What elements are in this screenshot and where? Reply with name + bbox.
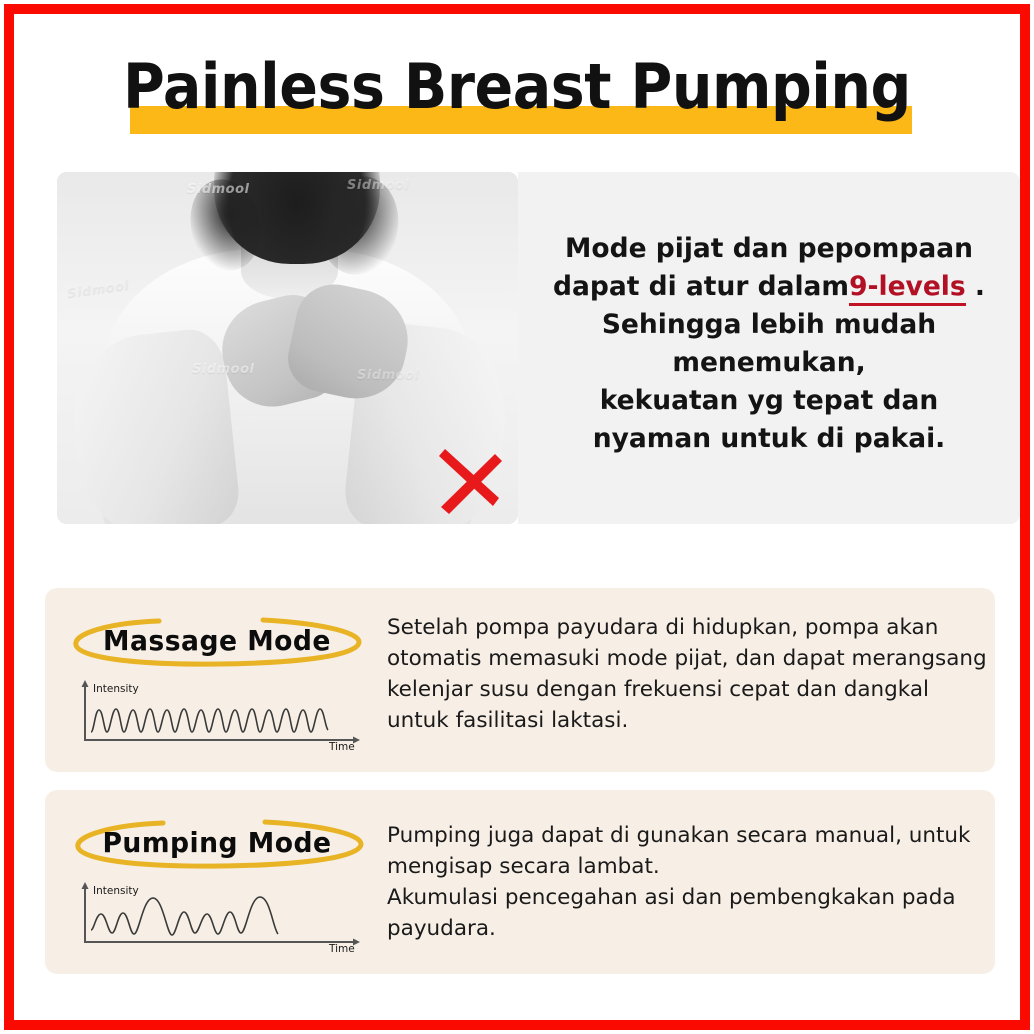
pumping-mode-title: Pumping Mode	[75, 816, 360, 870]
red-x-icon	[429, 444, 507, 522]
massage-mode-panel: Massage Mode Intensity Time Setelah pomp…	[45, 588, 995, 772]
pumping-x-axis-label: Time	[328, 943, 355, 954]
hero-line-1: Mode pijat dan pepompaan	[565, 233, 973, 264]
massage-waveform-chart: Intensity Time	[71, 676, 371, 752]
pumping-mode-visual: Pumping Mode Intensity Time	[45, 790, 387, 974]
hero-text-panel: Mode pijat dan pepompaan dapat di atur d…	[518, 172, 1020, 524]
infographic-page: Painless Breast Pumping Sidmool Sidmool …	[0, 0, 1034, 1034]
massage-x-axis-label: Time	[328, 741, 355, 752]
massage-mode-badge: Massage Mode	[67, 614, 367, 668]
pumping-waveform-chart: Intensity Time	[71, 878, 371, 954]
levels-highlight: 9-levels	[849, 271, 966, 306]
hero-line-2-prefix: dapat di atur dalam	[553, 271, 849, 302]
watermark-text: Sidmool	[192, 362, 255, 377]
hero-line-2-suffix: .	[966, 271, 985, 302]
pumping-mode-panel: Pumping Mode Intensity Time Pumping juga…	[45, 790, 995, 974]
pumping-mode-description: Pumping juga dapat di gunakan secara man…	[387, 820, 995, 944]
page-title: Painless Breast Pumping	[54, 44, 980, 130]
watermark-text: Sidmool	[347, 178, 410, 193]
pumping-mode-body: Pumping juga dapat di gunakan secara man…	[387, 790, 995, 1004]
content-canvas: Painless Breast Pumping Sidmool Sidmool …	[14, 14, 1020, 1020]
hero-description: Mode pijat dan pepompaan dapat di atur d…	[518, 230, 1020, 458]
massage-mode-visual: Massage Mode Intensity Time	[45, 588, 387, 772]
pumping-y-axis-label: Intensity	[93, 885, 139, 897]
hero-line-4: menemukan,	[672, 347, 865, 378]
massage-mode-title: Massage Mode	[75, 614, 360, 668]
hero-section: Sidmool Sidmool Sidmool Sidmool Sidmool …	[14, 172, 1020, 524]
hero-photo: Sidmool Sidmool Sidmool Sidmool Sidmool	[57, 172, 518, 524]
watermark-text: Sidmool	[357, 368, 420, 383]
massage-mode-description: Setelah pompa payudara di hidupkan, pomp…	[387, 612, 995, 736]
hero-line-5: kekuatan yg tepat dan	[600, 385, 938, 416]
hero-line-6: nyaman untuk di pakai.	[593, 423, 946, 454]
massage-mode-body: Setelah pompa payudara di hidupkan, pomp…	[387, 588, 995, 796]
pumping-mode-badge: Pumping Mode	[67, 816, 367, 870]
massage-y-axis-label: Intensity	[93, 683, 139, 695]
page-title-block: Painless Breast Pumping	[14, 44, 1020, 144]
watermark-text: Sidmool	[187, 182, 250, 197]
hero-line-3: Sehingga lebih mudah	[602, 309, 936, 340]
